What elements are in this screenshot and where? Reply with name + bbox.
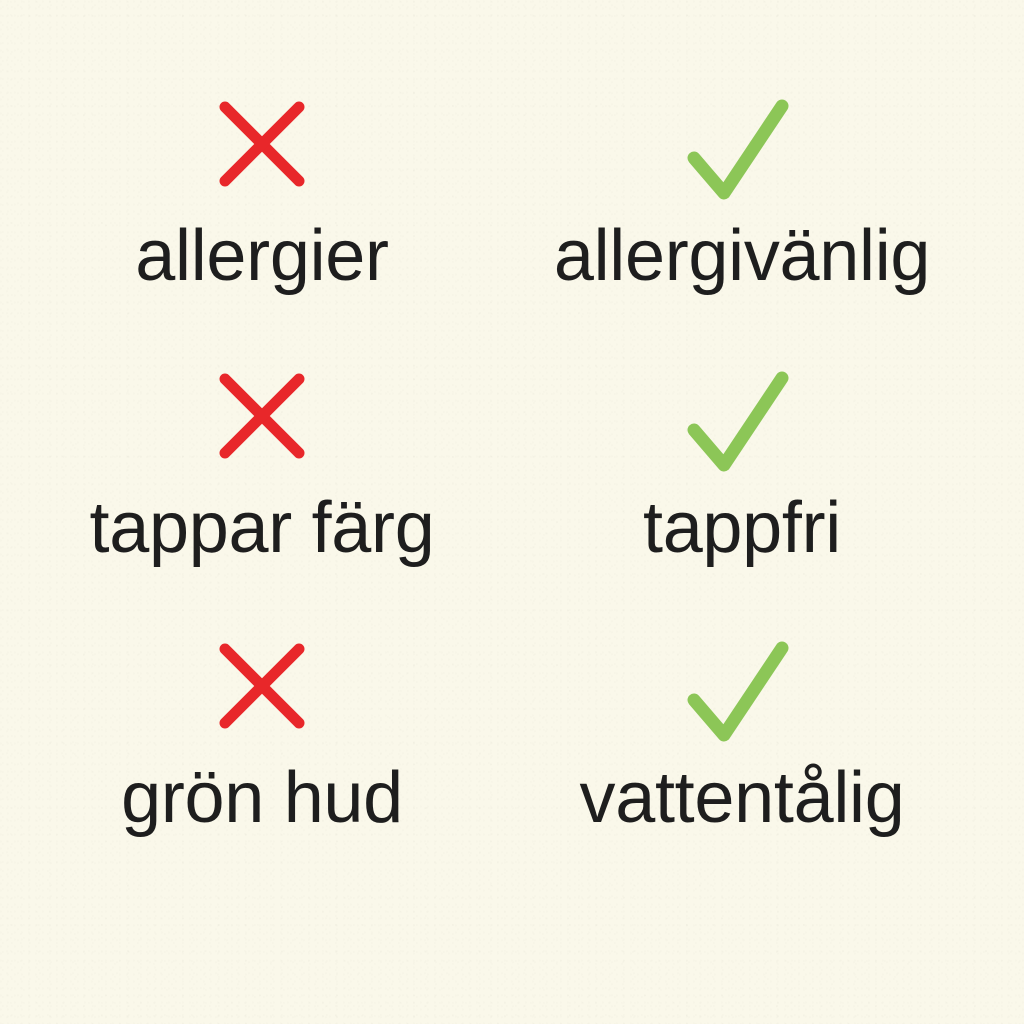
cross-icon bbox=[214, 96, 310, 208]
comparison-label: vattentålig bbox=[580, 762, 905, 834]
comparison-item-negative-2: tappar färg bbox=[27, 368, 497, 564]
cross-icon bbox=[214, 638, 310, 750]
comparison-item-negative-1: allergier bbox=[27, 96, 497, 292]
comparison-infographic: allergier allergivänlig tappar färg bbox=[0, 0, 1024, 1024]
comparison-item-positive-1: allergivänlig bbox=[507, 96, 977, 292]
check-icon bbox=[683, 96, 793, 208]
comparison-item-positive-2: tappfri bbox=[507, 368, 977, 564]
comparison-label: allergier bbox=[135, 220, 388, 292]
comparison-item-negative-3: grön hud bbox=[27, 638, 497, 834]
comparison-item-positive-3: vattentålig bbox=[507, 638, 977, 834]
comparison-label: allergivänlig bbox=[554, 220, 930, 292]
check-icon bbox=[683, 368, 793, 480]
comparison-label: tappfri bbox=[643, 492, 841, 564]
check-icon bbox=[683, 638, 793, 750]
cross-icon bbox=[214, 368, 310, 480]
comparison-grid: allergier allergivänlig tappar färg bbox=[0, 0, 1024, 1024]
comparison-label: grön hud bbox=[121, 762, 403, 834]
comparison-label: tappar färg bbox=[90, 492, 435, 564]
